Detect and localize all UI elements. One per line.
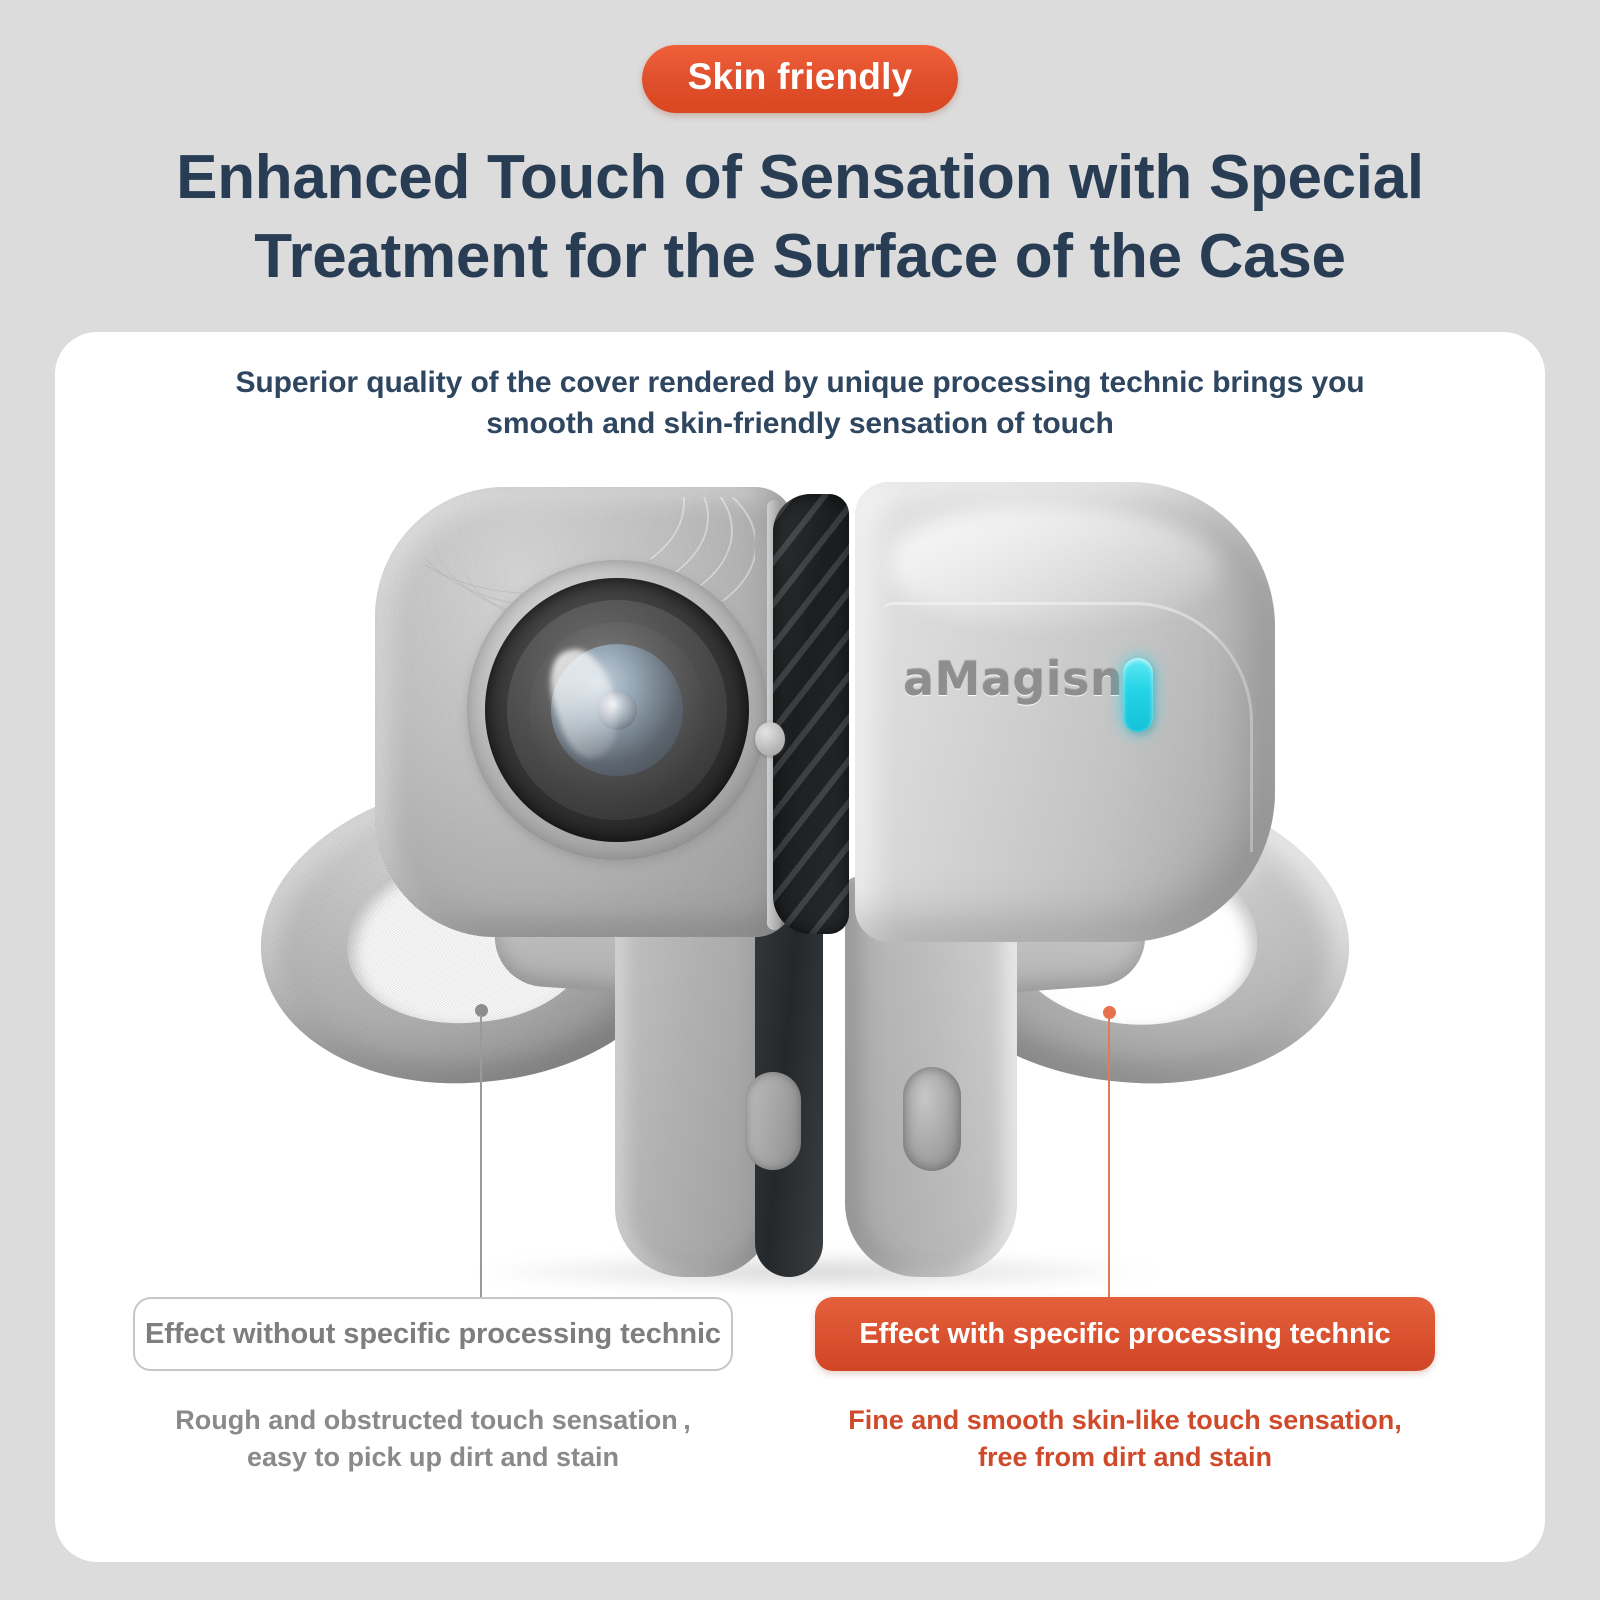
with-caption-line-1: Fine and smooth skin-like touch sensatio… bbox=[815, 1402, 1435, 1439]
left-callout-line bbox=[480, 1015, 482, 1315]
side-button bbox=[755, 722, 785, 756]
left-mount-screw-hole bbox=[745, 1072, 801, 1170]
left-mount-finger bbox=[615, 877, 775, 1277]
page-title: Enhanced Touch of Sensation with Special… bbox=[0, 138, 1600, 297]
brand-logo: aMagisn bbox=[903, 652, 1123, 706]
without-technic-caption: Rough and obstructed touch sensation , e… bbox=[133, 1402, 733, 1477]
badge-container: Skin friendly bbox=[0, 45, 1600, 113]
status-led-indicator bbox=[1123, 658, 1153, 732]
internal-ribs bbox=[773, 494, 849, 934]
case-cross-section bbox=[773, 494, 849, 934]
marketing-page: Skin friendly Enhanced Touch of Sensatio… bbox=[0, 0, 1600, 1600]
content-card: Superior quality of the cover rendered b… bbox=[55, 332, 1545, 1562]
subtitle-line-1: Superior quality of the cover rendered b… bbox=[55, 363, 1545, 404]
skin-friendly-badge: Skin friendly bbox=[642, 45, 959, 113]
without-caption-line-1: Rough and obstructed touch sensation , bbox=[133, 1402, 733, 1439]
subtitle: Superior quality of the cover rendered b… bbox=[55, 363, 1545, 445]
with-caption-line-2: free from dirt and stain bbox=[815, 1439, 1435, 1476]
right-mount-screw-hole bbox=[903, 1067, 961, 1171]
lens-glass bbox=[551, 644, 683, 776]
right-callout-line bbox=[1108, 1017, 1110, 1317]
without-caption-line-2: easy to pick up dirt and stain bbox=[133, 1439, 733, 1476]
without-technic-label: Effect without specific processing techn… bbox=[133, 1297, 733, 1371]
subtitle-line-2: smooth and skin-friendly sensation of to… bbox=[55, 404, 1545, 445]
headline-line-2: Treatment for the Surface of the Case bbox=[0, 217, 1600, 296]
with-technic-label: Effect with specific processing technic bbox=[815, 1297, 1435, 1371]
smooth-case-body bbox=[855, 482, 1275, 942]
product-illustration: aMagisn bbox=[55, 452, 1545, 1272]
with-technic-caption: Fine and smooth skin-like touch sensatio… bbox=[815, 1402, 1435, 1477]
headline-line-1: Enhanced Touch of Sensation with Special bbox=[0, 138, 1600, 217]
